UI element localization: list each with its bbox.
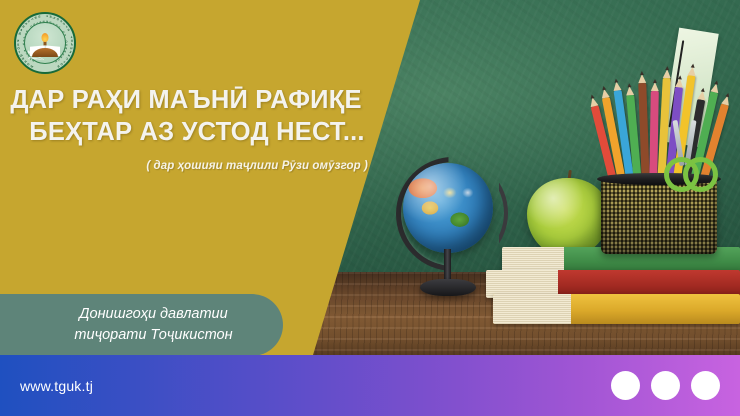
instagram-icon[interactable] xyxy=(651,371,680,400)
logo-ring-text: ДОНИШГОҲИ ДАВЛАТИИ ТИҶОРАТИ ТОҶИКИСТОНTA… xyxy=(16,14,74,72)
university-name-banner: Донишгоҳи давлатии тиҷорати Тоҷикистон xyxy=(0,294,283,356)
apple-object xyxy=(527,178,609,256)
book-yellow xyxy=(493,294,740,324)
facebook-icon[interactable] xyxy=(611,371,640,400)
banner-line-1: Донишгоҳи давлатии xyxy=(74,304,232,325)
social-links xyxy=(611,371,720,400)
footer-bar: www.tguk.tj xyxy=(0,355,740,416)
website-url[interactable]: www.tguk.tj xyxy=(20,378,93,394)
twitter-icon[interactable] xyxy=(691,371,720,400)
poster-canvas: ДОНИШГОҲИ ДАВЛАТИИ ТИҶОРАТИ ТОҶИКИСТОНTA… xyxy=(0,0,740,416)
university-logo[interactable]: ДОНИШГОҲИ ДАВЛАТИИ ТИҶОРАТИ ТОҶИКИСТОНTA… xyxy=(14,12,76,74)
headline-subtitle: ( дар ҳошияи таҷлили Рӯзи омӯзгор ) xyxy=(0,160,376,172)
headline-line-2: БЕҲТАР АЗ УСТОД НЕСТ... xyxy=(0,116,372,148)
scissors-icon xyxy=(664,120,708,182)
page-title: ДАР РАҲИ МАЪНӢ РАФИҚЕ БЕҲТАР АЗ УСТОД НЕ… xyxy=(0,84,372,148)
banner-line-2: тиҷорати Тоҷикистон xyxy=(74,325,232,346)
headline-line-1: ДАР РАҲИ МАЪНӢ РАФИҚЕ xyxy=(0,84,372,116)
